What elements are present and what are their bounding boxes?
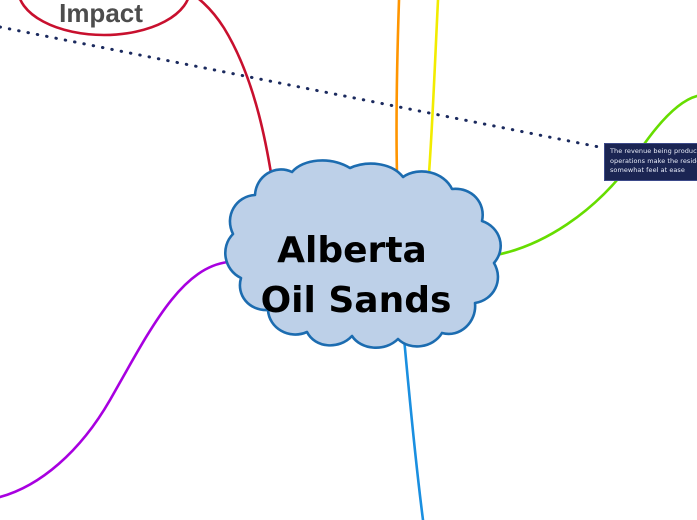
central-node[interactable]: Alberta Oil Sands <box>225 160 500 347</box>
branch-line-yellow[interactable] <box>428 0 438 186</box>
branch-line-orange[interactable] <box>397 0 399 175</box>
mindmap-canvas: Alberta Oil Sands Impact The revenue bei… <box>0 0 697 520</box>
tooltip-line-2: operations make the residen <box>610 157 693 167</box>
branch-label-impact: Impact <box>59 0 143 28</box>
relationship-line[interactable] <box>0 27 604 148</box>
branch-line-magenta[interactable] <box>0 262 228 497</box>
tooltip-line-1: The revenue being produced <box>610 147 693 157</box>
branch-line-blue[interactable] <box>404 338 423 520</box>
central-node-line2: Oil Sands <box>261 280 452 321</box>
relationship-note-tooltip[interactable]: The revenue being produced operations ma… <box>604 143 697 181</box>
central-node-line1: Alberta <box>277 230 427 271</box>
tooltip-line-3: somewhat feel at ease <box>610 166 693 176</box>
branch-line-impact[interactable] <box>186 0 275 199</box>
mindmap-svg: Alberta Oil Sands Impact <box>0 0 697 520</box>
